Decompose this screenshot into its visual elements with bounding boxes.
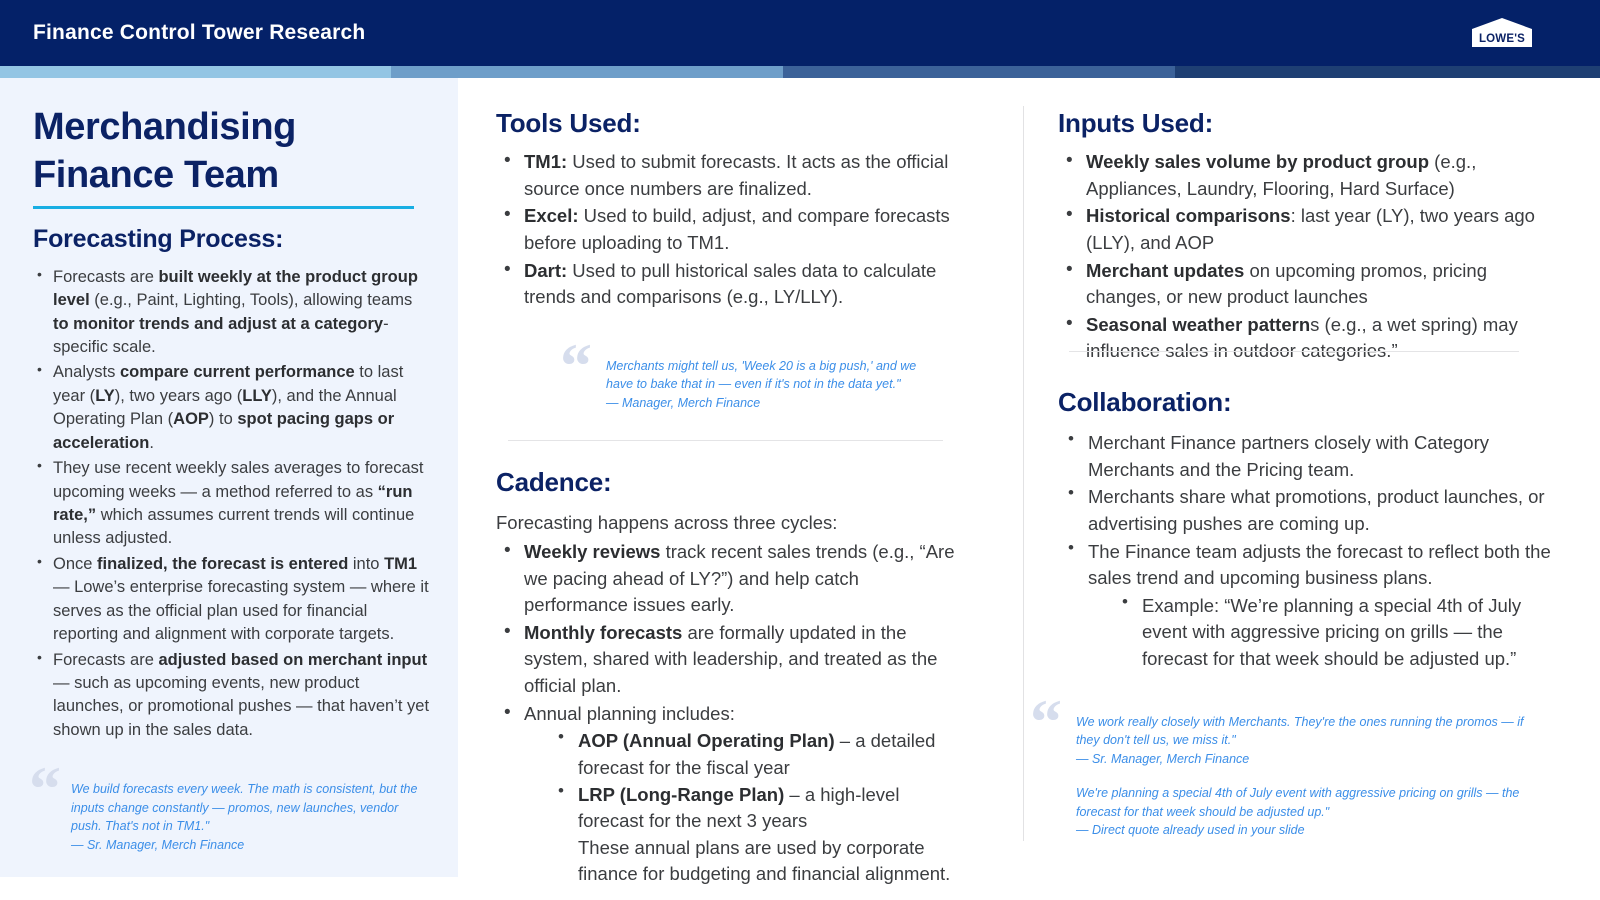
- collaboration-list: Merchant Finance partners closely with C…: [1058, 430, 1558, 673]
- list-item: Historical comparisons: last year (LY), …: [1058, 203, 1558, 256]
- quote-mark-icon: “: [560, 341, 592, 391]
- quote-block-left: “ We build forecasts every week. The mat…: [29, 764, 430, 854]
- list-item: Forecasts are built weekly at the produc…: [33, 266, 430, 360]
- column-divider: [1023, 106, 1024, 841]
- section-heading-collaboration: Collaboration:: [1058, 387, 1558, 418]
- quote-attribution: — Manager, Merch Finance: [606, 394, 936, 413]
- inputs-used-list: Weekly sales volume by product group (e.…: [1058, 149, 1558, 365]
- annual-planning-sublist: AOP (Annual Operating Plan) – a detailed…: [552, 728, 966, 888]
- list-item: Merchant updates on upcoming promos, pri…: [1058, 258, 1558, 311]
- collaboration-sublist: Example: “We’re planning a special 4th o…: [1116, 593, 1558, 673]
- tools-used-list: TM1: Used to submit forecasts. It acts a…: [496, 149, 966, 311]
- quote-text: We work really closely with Merchants. T…: [1076, 715, 1523, 748]
- list-item: Merchants share what promotions, product…: [1058, 484, 1558, 537]
- list-item: LRP (Long-Range Plan) – a high-level for…: [552, 782, 966, 889]
- quote-text: We build forecasts every week. The math …: [71, 782, 417, 833]
- svg-text:LOWE'S: LOWE'S: [1479, 33, 1525, 45]
- accent-segment-3: [783, 66, 1175, 78]
- list-item: Example: “We’re planning a special 4th o…: [1116, 593, 1558, 673]
- slide-header: Finance Control Tower Research LOWE'S: [0, 0, 1600, 66]
- list-item: Once finalized, the forecast is entered …: [33, 553, 430, 647]
- slide-canvas: Finance Control Tower Research LOWE'S Me…: [0, 0, 1600, 900]
- quote-mark-icon: “: [1030, 697, 1062, 747]
- quote-attribution: — Sr. Manager, Merch Finance: [1076, 750, 1546, 769]
- title-underline-rule: [33, 206, 414, 209]
- section-heading-forecasting-process: Forecasting Process:: [33, 225, 430, 254]
- quote-text: Merchants might tell us, 'Week 20 is a b…: [606, 359, 916, 392]
- list-item: Monthly forecasts are formally updated i…: [496, 620, 966, 700]
- quote-mark-icon: “: [29, 764, 61, 814]
- list-item: Seasonal weather patterns (e.g., a wet s…: [1058, 312, 1558, 365]
- list-item: The Finance team adjusts the forecast to…: [1058, 539, 1558, 673]
- quote-body: We build forecasts every week. The math …: [71, 780, 430, 854]
- list-item: They use recent weekly sales averages to…: [33, 457, 430, 551]
- section-heading-tools-used: Tools Used:: [496, 108, 966, 139]
- quote-block-middle: “ Merchants might tell us, 'Week 20 is a…: [560, 341, 966, 413]
- quote-attribution: — Sr. Manager, Merch Finance: [71, 836, 430, 855]
- list-item: Analysts compare current performance to …: [33, 361, 430, 455]
- quote-attribution-secondary: — Direct quote already used in your slid…: [1076, 821, 1546, 840]
- quote-text-secondary: We're planning a special 4th of July eve…: [1076, 786, 1519, 819]
- accent-color-bar: [0, 66, 1600, 78]
- list-item: Weekly reviews track recent sales trends…: [496, 539, 966, 619]
- forecasting-process-list: Forecasts are built weekly at the produc…: [33, 266, 430, 742]
- list-item: AOP (Annual Operating Plan) – a detailed…: [552, 728, 966, 781]
- right-column: Inputs Used: Weekly sales volume by prod…: [1058, 78, 1558, 900]
- lowes-logo: LOWE'S: [1466, 16, 1538, 50]
- deck-title: Merchandising Finance Team: [33, 104, 430, 200]
- list-item: Excel: Used to build, adjust, and compar…: [496, 203, 966, 256]
- quote-block-right: “ We work really closely with Merchants.…: [1030, 697, 1558, 840]
- list-item: TM1: Used to submit forecasts. It acts a…: [496, 149, 966, 202]
- accent-segment-4: [1175, 66, 1600, 78]
- list-item: Annual planning includes: AOP (Annual Op…: [496, 701, 966, 888]
- accent-segment-1: [0, 66, 391, 78]
- cadence-list: Weekly reviews track recent sales trends…: [496, 539, 966, 888]
- list-item: Weekly sales volume by product group (e.…: [1058, 149, 1558, 202]
- quote-body: Merchants might tell us, 'Week 20 is a b…: [606, 357, 936, 413]
- left-panel: Merchandising Finance Team Forecasting P…: [0, 78, 458, 877]
- quote-body: We work really closely with Merchants. T…: [1076, 713, 1546, 840]
- list-item: Merchant Finance partners closely with C…: [1058, 430, 1558, 483]
- section-heading-cadence: Cadence:: [496, 467, 966, 498]
- quote-spacer: [1076, 768, 1546, 784]
- slide-body: Merchandising Finance Team Forecasting P…: [0, 78, 1600, 900]
- middle-column: Tools Used: TM1: Used to submit forecast…: [496, 78, 966, 900]
- cadence-lead-text: Forecasting happens across three cycles:: [496, 510, 966, 537]
- stray-horizontal-rule: [1069, 351, 1519, 352]
- accent-segment-2: [391, 66, 783, 78]
- list-item: Dart: Used to pull historical sales data…: [496, 258, 966, 311]
- list-item: Forecasts are adjusted based on merchant…: [33, 649, 430, 743]
- section-heading-inputs-used: Inputs Used:: [1058, 108, 1558, 139]
- page-title: Finance Control Tower Research: [33, 21, 365, 45]
- section-divider-rule: [508, 440, 943, 441]
- annual-planning-tail-text: These annual plans are used by corporate…: [578, 835, 966, 888]
